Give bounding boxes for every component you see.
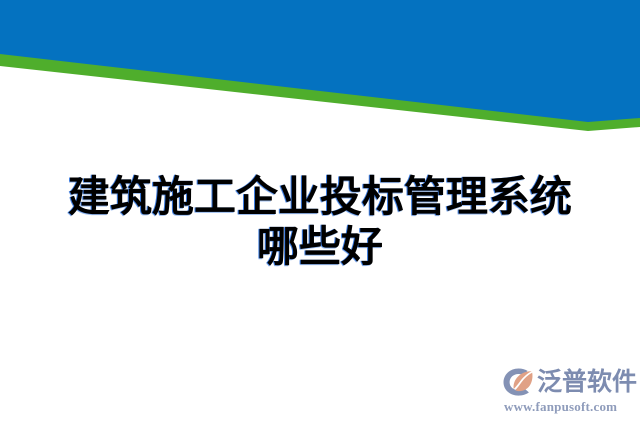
- page-title-line-2: 哪些好: [0, 222, 640, 272]
- banner-green-stripe: [0, 0, 640, 131]
- brand-logo-row: 泛普软件: [502, 366, 637, 398]
- fanpu-swoosh-logo-icon: [502, 367, 534, 397]
- slide-canvas: 建筑施工企业投标管理系统 哪些好 泛普软件 www.fanpusoft.com: [0, 0, 640, 427]
- brand-website-url: www.fanpusoft.com: [504, 399, 617, 415]
- page-title: 建筑施工企业投标管理系统 哪些好: [0, 172, 640, 272]
- brand-name: 泛普软件: [537, 368, 637, 396]
- page-title-line-1: 建筑施工企业投标管理系统: [0, 172, 640, 222]
- brand-logo: 泛普软件 www.fanpusoft.com: [502, 366, 636, 418]
- top-banner: [0, 0, 640, 160]
- banner-blue-shape: [0, 0, 640, 122]
